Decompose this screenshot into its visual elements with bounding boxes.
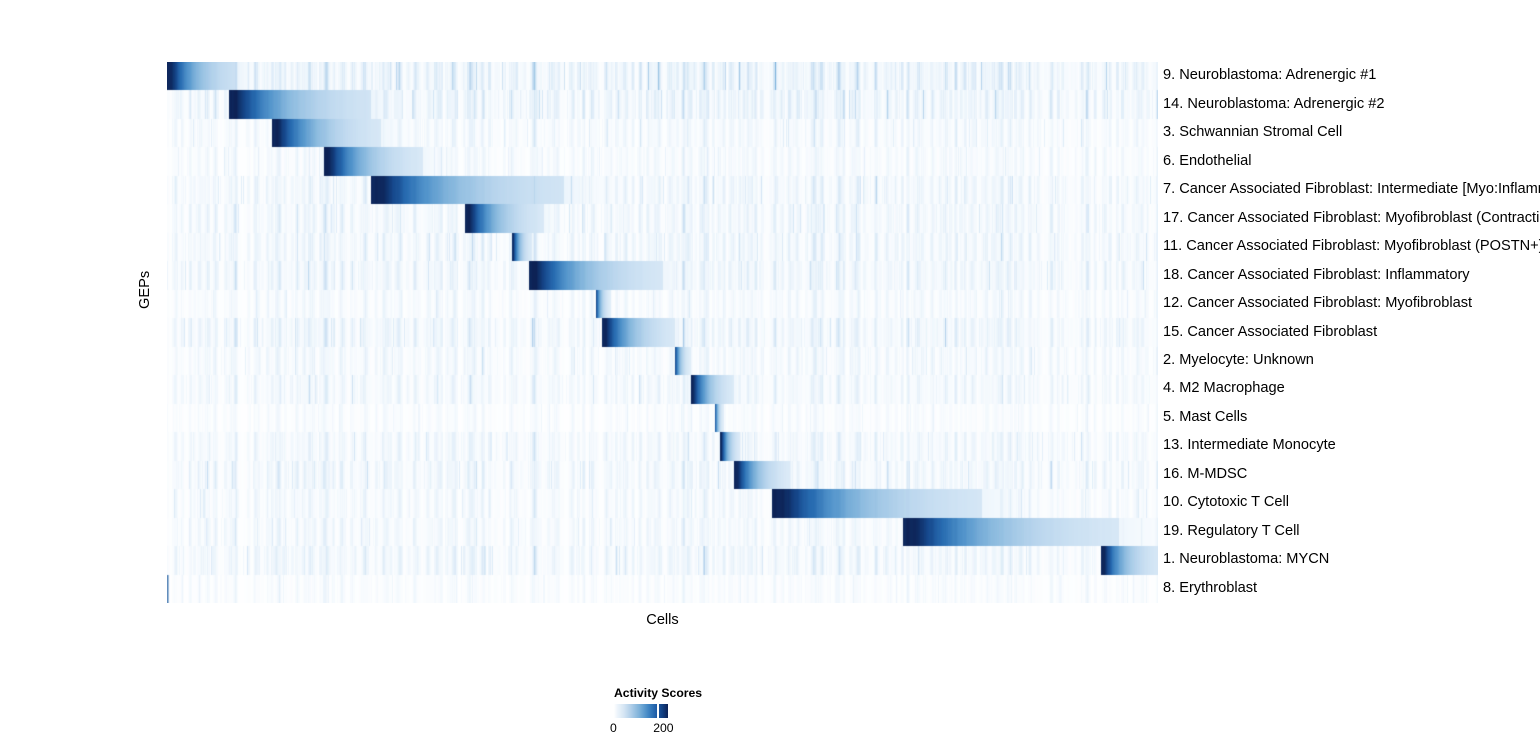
row-label: 2. Myelocyte: Unknown [1163, 353, 1314, 368]
row-label: 15. Cancer Associated Fibroblast [1163, 325, 1377, 340]
heatmap-row-labels: 9. Neuroblastoma: Adrenergic #114. Neuro… [1163, 62, 1540, 603]
heatmap-plot-area [167, 62, 1158, 603]
row-label: 7. Cancer Associated Fibroblast: Interme… [1163, 182, 1540, 197]
legend-color-bar [614, 704, 668, 718]
row-label: 1. Neuroblastoma: MYCN [1163, 552, 1329, 567]
row-label: 11. Cancer Associated Fibroblast: Myofib… [1163, 239, 1540, 254]
row-label: 18. Cancer Associated Fibroblast: Inflam… [1163, 268, 1470, 283]
legend-title: Activity Scores [614, 686, 702, 700]
legend-tick-label: 200 [653, 721, 673, 735]
row-label: 6. Endothelial [1163, 154, 1251, 169]
heatmap-canvas [167, 62, 1158, 603]
row-label: 13. Intermediate Monocyte [1163, 438, 1336, 453]
y-axis-title: GEPs [137, 281, 153, 309]
legend-tick-mark [657, 704, 659, 718]
row-label: 9. Neuroblastoma: Adrenergic #1 [1163, 68, 1376, 83]
row-label: 3. Schwannian Stromal Cell [1163, 125, 1342, 140]
row-label: 5. Mast Cells [1163, 410, 1247, 425]
row-label: 10. Cytotoxic T Cell [1163, 495, 1289, 510]
row-label: 14. Neuroblastoma: Adrenergic #2 [1163, 97, 1384, 112]
row-label: 12. Cancer Associated Fibroblast: Myofib… [1163, 296, 1472, 311]
row-label: 16. M-MDSC [1163, 467, 1247, 482]
row-label: 19. Regulatory T Cell [1163, 524, 1300, 539]
x-axis-title: Cells [167, 612, 1158, 628]
heatmap-figure: 9. Neuroblastoma: Adrenergic #114. Neuro… [0, 0, 1540, 743]
row-label: 4. M2 Macrophage [1163, 381, 1285, 396]
legend-tick-label: 0 [610, 721, 617, 735]
row-label: 17. Cancer Associated Fibroblast: Myofib… [1163, 211, 1540, 226]
row-label: 8. Erythroblast [1163, 581, 1257, 596]
